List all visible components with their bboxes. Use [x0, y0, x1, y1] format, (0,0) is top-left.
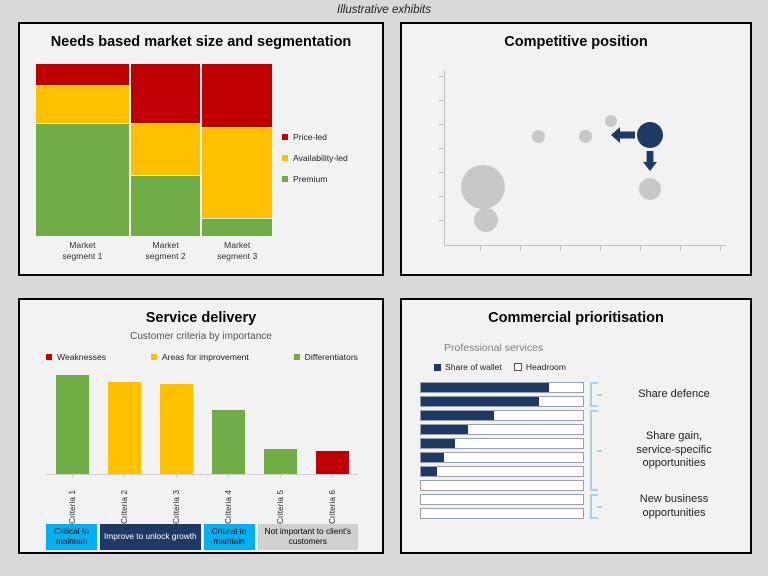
legend-swatch — [282, 155, 288, 161]
x-axis-tick — [720, 246, 721, 251]
service-delivery-bar — [316, 451, 349, 474]
marimekko-column — [202, 64, 272, 236]
marimekko-chart — [36, 64, 268, 236]
panel-competitive-position: Competitive position — [400, 22, 752, 276]
priority-band-label: Critical to maintain — [205, 527, 254, 547]
legend-label: Headroom — [526, 362, 566, 372]
service-delivery-bars — [46, 370, 358, 474]
share-of-wallet-fill — [421, 467, 437, 476]
legend-item: Areas for improvement — [151, 352, 249, 362]
service-delivery-plot — [46, 370, 358, 474]
panel-title-market: Needs based market size and segmentation — [20, 34, 382, 50]
share-of-wallet-fill — [421, 383, 549, 392]
legend-item: Availability-led — [282, 153, 348, 163]
marimekko-segment — [36, 64, 129, 86]
panel-title-commerce: Commercial prioritisation — [402, 310, 750, 326]
share-of-wallet-fill — [421, 453, 444, 462]
legend-label: Share of wallet — [445, 362, 502, 372]
priority-band[interactable]: Not important to client's customers — [258, 524, 358, 550]
marimekko-segment — [131, 64, 201, 124]
legend-item: Price-led — [282, 132, 348, 142]
commerce-bars — [420, 382, 584, 522]
legend-swatch — [294, 354, 300, 360]
marimekko-column — [131, 64, 201, 236]
commerce-legend: Share of walletHeadroom — [434, 362, 566, 372]
priority-band[interactable]: Critical to maintain — [204, 524, 255, 550]
move-left-arrow-icon — [611, 126, 635, 149]
share-of-wallet-fill — [421, 397, 539, 406]
bar-slot — [306, 370, 358, 474]
x-axis-tick — [480, 246, 481, 251]
y-axis-tick — [439, 76, 444, 77]
bar-slot — [202, 370, 254, 474]
category-label: Criteria 3 — [150, 478, 202, 524]
bubble-competitor-large — [461, 165, 505, 209]
marimekko-segment — [131, 124, 201, 176]
commerce-bar — [420, 410, 584, 421]
legend-swatch — [282, 134, 288, 140]
legend-swatch — [151, 354, 157, 360]
bubble-competitor-small-lower — [474, 208, 498, 232]
x-axis-tick — [640, 246, 641, 251]
category-label-text: Criteria 5 — [275, 478, 285, 524]
priority-band-label: Improve to unlock growth — [104, 532, 197, 542]
bubble-competitor-mid-left — [532, 130, 545, 143]
legend-swatch — [282, 176, 288, 182]
marimekko-segment — [202, 219, 272, 236]
service-delivery-priority-bands: Critical to maintainImprove to unlock gr… — [46, 524, 358, 550]
category-label-text: Criteria 3 — [171, 478, 181, 524]
panel-title-service: Service delivery — [20, 310, 382, 326]
marimekko-segment — [36, 86, 129, 124]
panel-commercial-prioritisation: Commercial prioritisation Professional s… — [400, 298, 752, 554]
group-label: Share gain,service-specificopportunities — [608, 429, 740, 473]
service-delivery-bar — [108, 382, 141, 474]
service-delivery-category-labels: Criteria 1Criteria 2Criteria 3Criteria 4… — [46, 478, 358, 524]
marimekko-legend: Price-ledAvailability-ledPremium — [282, 132, 348, 195]
commerce-bar — [420, 494, 584, 505]
marimekko-column — [36, 64, 129, 236]
category-label: Criteria 5 — [254, 478, 306, 524]
category-label: Criteria 4 — [202, 478, 254, 524]
share-of-wallet-fill — [421, 425, 468, 434]
panel-title-compete: Competitive position — [402, 34, 750, 50]
bubble-client-current — [637, 122, 663, 148]
marimekko-segment — [131, 176, 201, 236]
panel-subtitle-service: Customer criteria by importance — [20, 331, 382, 342]
bubble-client-target — [639, 178, 661, 200]
commerce-bar — [420, 466, 584, 477]
bar-slot — [46, 370, 98, 474]
legend-swatch — [434, 364, 441, 371]
group-label: Share defence — [608, 373, 740, 417]
x-axis-tick — [520, 246, 521, 251]
legend-label: Areas for improvement — [162, 352, 249, 362]
commerce-bar — [420, 508, 584, 519]
legend-label: Price-led — [293, 132, 327, 142]
priority-band[interactable]: Critical to maintain — [46, 524, 97, 550]
category-label-text: Criteria 1 — [67, 478, 77, 524]
bubble-chart — [430, 66, 726, 260]
category-label-text: Criteria 4 — [223, 478, 233, 524]
bar-slot — [150, 370, 202, 474]
panel-market-segmentation: Needs based market size and segmentation… — [18, 22, 384, 276]
priority-band-label: Critical to maintain — [47, 527, 96, 547]
commerce-bar — [420, 382, 584, 393]
commerce-bar — [420, 480, 584, 491]
share-of-wallet-fill — [421, 439, 455, 448]
panel-service-delivery: Service delivery Customer criteria by im… — [18, 298, 384, 554]
x-axis-line — [444, 245, 726, 246]
commerce-subtitle: Professional services — [444, 342, 543, 354]
category-label: Criteria 1 — [46, 478, 98, 524]
exhibit-page: Illustrative exhibits Needs based market… — [0, 0, 768, 576]
group-bracket-nub — [597, 506, 602, 508]
legend-label: Availability-led — [293, 153, 348, 163]
legend-swatch — [514, 363, 522, 371]
y-axis-tick — [439, 148, 444, 149]
priority-band-label: Not important to client's customers — [259, 527, 357, 547]
commerce-bar — [420, 424, 584, 435]
marimekko-category-label: Marketsegment 1 — [36, 240, 129, 261]
x-axis-tick — [560, 246, 561, 251]
service-delivery-bar — [56, 375, 89, 474]
service-delivery-legend: WeaknessesAreas for improvementDifferent… — [46, 352, 358, 362]
y-axis-tick — [439, 100, 444, 101]
bar-slot — [98, 370, 150, 474]
y-axis-tick — [439, 196, 444, 197]
legend-label: Differentiators — [305, 352, 358, 362]
category-label-text: Criteria 6 — [327, 478, 337, 524]
y-axis-tick — [439, 172, 444, 173]
category-label: Criteria 6 — [306, 478, 358, 524]
bar-slot — [254, 370, 306, 474]
group-bracket-nub — [597, 450, 602, 452]
bubble-competitor-mid-centre — [579, 130, 592, 143]
commerce-bar — [420, 438, 584, 449]
service-delivery-bar — [212, 410, 245, 474]
y-axis-line — [444, 70, 445, 246]
marimekko-category-label: Marketsegment 2 — [131, 240, 201, 261]
group-label: New businessopportunities — [608, 485, 740, 529]
x-axis-tick — [680, 246, 681, 251]
category-label-text: Criteria 2 — [119, 478, 129, 524]
marimekko-category-label: Marketsegment 3 — [202, 240, 272, 261]
group-bracket-nub — [597, 394, 602, 396]
marimekko-segment — [36, 124, 129, 236]
service-delivery-bar — [160, 384, 193, 474]
x-axis-tick — [600, 246, 601, 251]
legend-item: Differentiators — [294, 352, 358, 362]
share-of-wallet-fill — [421, 411, 494, 420]
marimekko-segment — [202, 64, 272, 128]
legend-swatch — [46, 354, 52, 360]
legend-item: Weaknesses — [46, 352, 106, 362]
service-delivery-bar — [264, 449, 297, 474]
marimekko-segment — [202, 128, 272, 219]
legend-label: Weaknesses — [57, 352, 106, 362]
priority-band[interactable]: Improve to unlock growth — [100, 524, 200, 550]
legend-label: Premium — [293, 174, 327, 184]
commerce-bar — [420, 396, 584, 407]
marimekko-category-labels: Marketsegment 1Marketsegment 2Marketsegm… — [36, 240, 268, 261]
commerce-bar — [420, 452, 584, 463]
page-header: Illustrative exhibits — [0, 4, 768, 16]
move-down-arrow-icon — [643, 151, 657, 176]
y-axis-tick — [439, 124, 444, 125]
marimekko-columns — [36, 64, 268, 236]
category-label: Criteria 2 — [98, 478, 150, 524]
legend-item: Premium — [282, 174, 348, 184]
y-axis-tick — [439, 220, 444, 221]
